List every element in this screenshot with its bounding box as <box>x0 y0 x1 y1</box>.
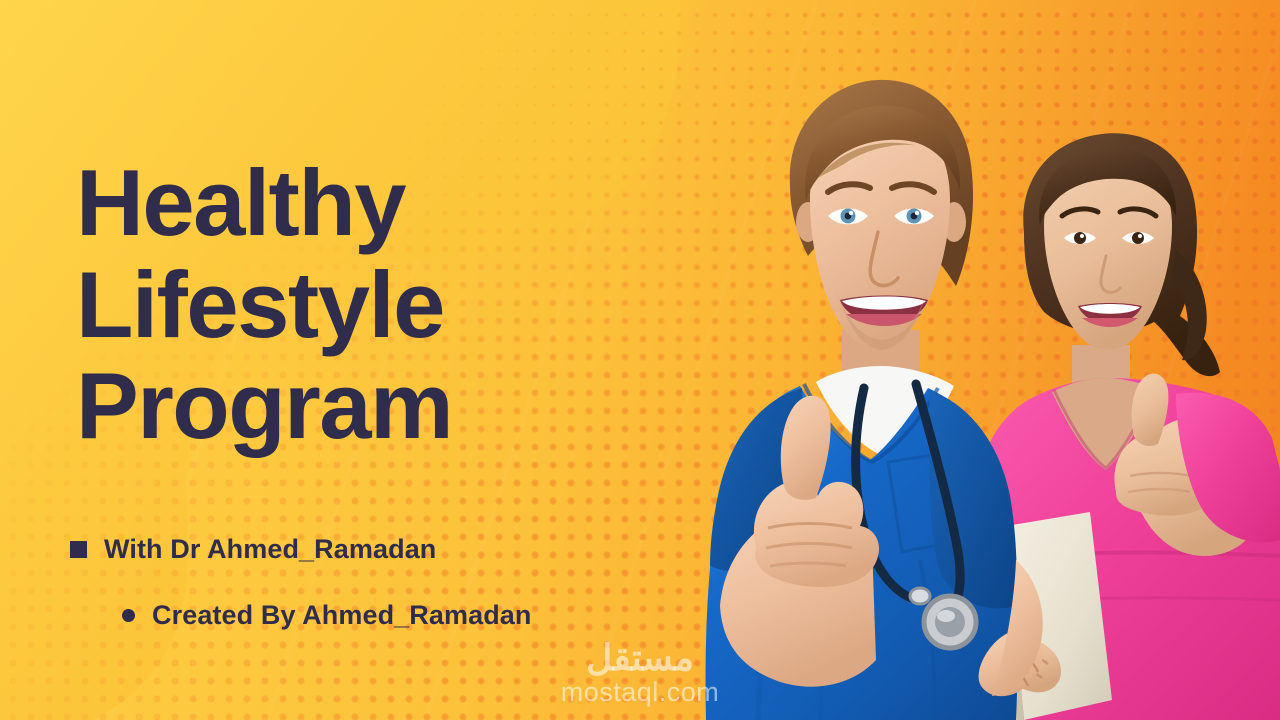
poster-canvas: Healthy Lifestyle Program With Dr Ahmed_… <box>0 0 1280 720</box>
headline-line-1: Healthy <box>76 152 696 254</box>
male-doctor-figure <box>706 80 1043 720</box>
subtitle-secondary: Created By Ahmed_Ramadan <box>152 600 532 631</box>
headline-line-2: Lifestyle <box>76 254 696 356</box>
square-bullet-icon <box>70 541 87 558</box>
headline-line-3: Program <box>76 355 696 457</box>
subtitle-primary: With Dr Ahmed_Ramadan <box>104 534 436 565</box>
round-bullet-icon <box>122 609 135 622</box>
male-fist <box>754 481 879 587</box>
subtitle-secondary-row: Created By Ahmed_Ramadan <box>122 600 532 631</box>
poster-headline: Healthy Lifestyle Program <box>76 152 696 457</box>
doctors-photo-group <box>620 0 1280 720</box>
subtitle-primary-row: With Dr Ahmed_Ramadan <box>70 534 436 565</box>
